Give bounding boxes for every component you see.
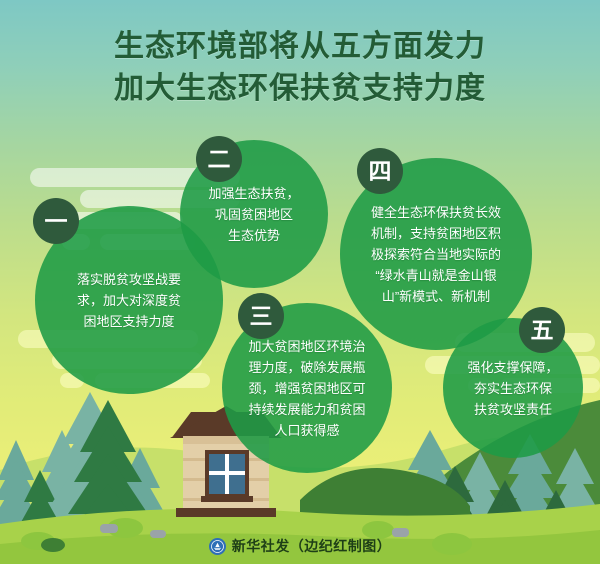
point-text-5: 强化支撑保障， 夯实生态环保 扶贫攻坚责任	[455, 357, 570, 420]
point-badge-1: 一	[33, 198, 79, 244]
infographic-poster: 生态环境部将从五方面发力 加大生态环保扶贫支持力度 落实脱贫攻坚战要 求，加大对…	[0, 0, 600, 564]
title-line-1: 生态环境部将从五方面发力	[0, 26, 600, 68]
credit-line: 新华社发（边纪红制图）	[0, 536, 600, 556]
credit-text: 新华社发（边纪红制图）	[232, 536, 392, 556]
point-badge-4: 四	[357, 148, 403, 194]
point-badge-5: 五	[519, 307, 565, 353]
point-badge-2: 二	[196, 136, 242, 182]
point-text-1: 落实脱贫攻坚战要 求，加大对深度贫 困地区支持力度	[65, 269, 193, 332]
point-text-3: 加大贫困地区环境治 理力度，破除发展瓶 颈，增强贫困地区可 持续发展能力和贫困 …	[236, 336, 377, 441]
title-line-2: 加大生态环保扶贫支持力度	[0, 68, 600, 110]
point-text-4: 健全生态环保扶贫长效 机制，支持贫困地区积 极探索符合当地实际的 “绿水青山就是…	[359, 202, 513, 307]
point-badge-3: 三	[238, 293, 284, 339]
point-text-2: 加强生态扶贫， 巩固贫困地区 生态优势	[196, 183, 311, 246]
xinhua-logo-icon	[209, 538, 226, 555]
poster-title: 生态环境部将从五方面发力 加大生态环保扶贫支持力度	[0, 26, 600, 110]
